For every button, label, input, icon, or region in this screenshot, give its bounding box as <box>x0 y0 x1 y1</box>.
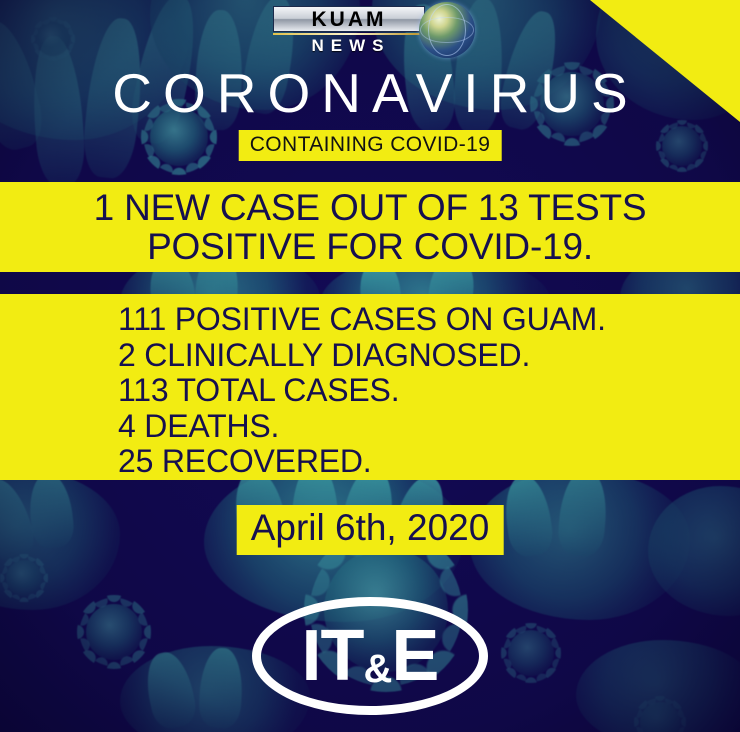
kuam-wordmark: KUAM <box>273 6 425 32</box>
kuam-news-text: NEWS <box>312 37 391 54</box>
ite-wordmark: IT & E <box>302 620 439 692</box>
ite-wordmark-suffix: E <box>391 620 438 692</box>
kuam-wordmark-text: KUAM <box>312 9 387 30</box>
ite-sponsor-logo: IT & E <box>252 597 488 715</box>
kuam-news-wordmark: NEWS <box>277 35 425 55</box>
globe-icon <box>419 2 475 58</box>
ite-wordmark-ampersand: & <box>364 649 392 689</box>
headline-banner: 1 NEW CASE OUT OF 13 TESTS POSITIVE FOR … <box>0 182 740 272</box>
ite-wordmark-prefix: IT <box>302 620 364 692</box>
statistics-panel: 111 POSITIVE CASES ON GUAM. 2 CLINICALLY… <box>0 294 740 480</box>
stat-total-cases: 113 TOTAL CASES. <box>118 373 740 409</box>
stat-positive-cases: 111 POSITIVE CASES ON GUAM. <box>118 302 740 338</box>
headline-line-1: 1 NEW CASE OUT OF 13 TESTS <box>94 188 647 227</box>
headline-line-2: POSITIVE FOR COVID-19. <box>147 227 593 266</box>
stat-recovered: 25 RECOVERED. <box>118 444 740 480</box>
kuam-news-logo: KUAM NEWS <box>267 2 473 56</box>
stat-deaths: 4 DEATHS. <box>118 409 740 445</box>
date-badge: April 6th, 2020 <box>237 505 504 555</box>
stat-clinically-diagnosed: 2 CLINICALLY DIAGNOSED. <box>118 338 740 374</box>
coronavirus-update-poster: KUAM NEWS CORONAVIRUS CONTAINING COVID-1… <box>0 0 740 732</box>
subtitle-badge: CONTAINING COVID-19 <box>239 130 502 161</box>
page-title: CORONAVIRUS <box>0 66 740 121</box>
